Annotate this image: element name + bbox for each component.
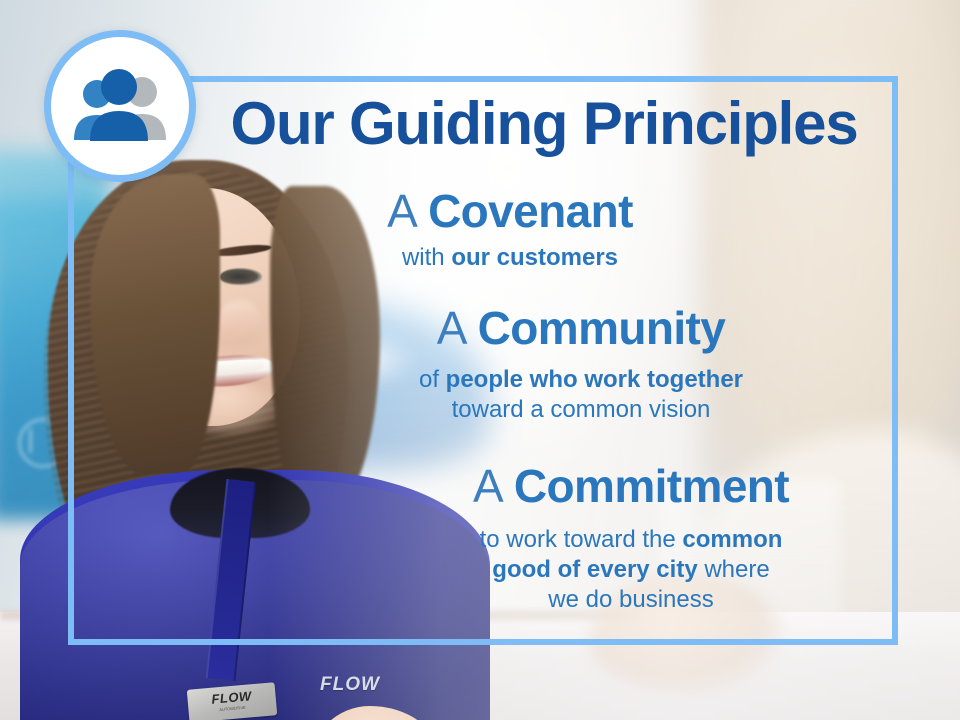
commitment-sub-bold1: common: [682, 526, 782, 553]
covenant-sub-plain: with: [402, 244, 451, 271]
principle-community-article: A: [437, 302, 478, 354]
principle-covenant-subtext: with our customers: [300, 243, 720, 273]
commitment-sub-plain2: where: [698, 556, 770, 583]
guiding-principles-graphic: FLOW FLOW AUTOMOTIVE: [0, 0, 960, 720]
principle-covenant-heading: A Covenant: [300, 188, 720, 236]
people-badge: [44, 30, 196, 182]
principle-community: A Community of people who work together …: [346, 305, 816, 425]
principle-community-heading: A Community: [346, 305, 816, 353]
nose: [216, 300, 262, 344]
principle-commitment-keyword: Commitment: [514, 460, 789, 512]
community-sub-bold: people who work together: [446, 366, 743, 393]
commitment-sub-plain1: to work toward the: [480, 526, 683, 553]
principle-commitment-article: A: [473, 460, 514, 512]
covenant-sub-bold: our customers: [451, 244, 618, 271]
principle-covenant-article: A: [387, 185, 428, 237]
name-badge: FLOW AUTOMOTIVE: [187, 682, 278, 720]
principle-commitment: A Commitment to work toward the common g…: [386, 463, 876, 615]
principle-commitment-heading: A Commitment: [386, 463, 876, 511]
principle-community-subtext: of people who work together toward a com…: [346, 365, 816, 425]
page-title: Our Guiding Principles: [214, 94, 874, 154]
principle-commitment-subtext: to work toward the common good of every …: [386, 525, 876, 615]
commitment-sub-bold2: good of every city: [492, 556, 697, 583]
principle-covenant-keyword: Covenant: [428, 185, 633, 237]
shirt-flow-logo: FLOW: [320, 674, 394, 694]
principle-covenant: A Covenant with our customers: [300, 188, 720, 273]
eye-near: [220, 268, 262, 285]
commitment-sub-plain3: we do business: [548, 586, 713, 613]
hair-front-left: [90, 174, 220, 474]
people-group-icon: [68, 68, 172, 144]
principle-community-keyword: Community: [478, 302, 726, 354]
community-sub-plain2: toward a common vision: [452, 396, 711, 423]
community-sub-plain1: of: [419, 366, 446, 393]
